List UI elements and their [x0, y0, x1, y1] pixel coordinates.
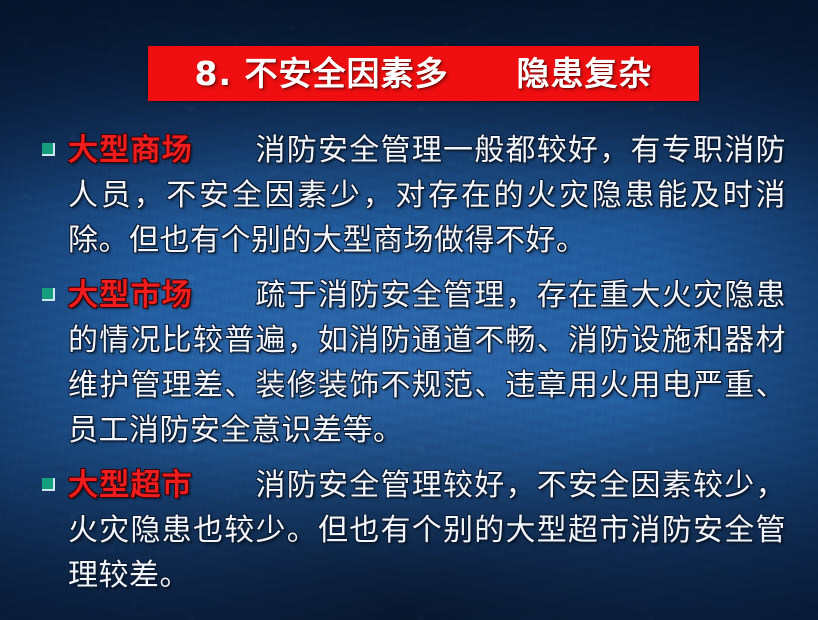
slide-title: 8. 不安全因素多 隐患复杂 [195, 57, 653, 90]
bullet-lead-label: 大型市场 [68, 278, 193, 313]
square-bullet-icon [42, 478, 55, 491]
square-bullet-icon [42, 288, 55, 301]
slide-body: 大型商场 消防安全管理一般都较好，有专职消防人员，不安全因素少，对存在的火灾隐患… [42, 128, 786, 608]
bullet-text: 大型商场 消防安全管理一般都较好，有专职消防人员，不安全因素少，对存在的火灾隐患… [68, 128, 786, 263]
square-bullet-icon [42, 143, 55, 156]
bullet-item: 大型商场 消防安全管理一般都较好，有专职消防人员，不安全因素少，对存在的火灾隐患… [42, 128, 786, 263]
bullet-text: 大型超市 消防安全管理较好，不安全因素较少，火灾隐患也较少。但也有个别的大型超市… [68, 463, 786, 598]
bullet-item: 大型市场 疏于消防安全管理，存在重大火灾隐患的情况比较普遍，如消防通道不畅、消防… [42, 273, 786, 453]
bullet-text: 大型市场 疏于消防安全管理，存在重大火灾隐患的情况比较普遍，如消防通道不畅、消防… [68, 273, 786, 453]
bullet-gap [193, 133, 256, 168]
title-banner: 8. 不安全因素多 隐患复杂 [148, 46, 699, 101]
bullet-gap [193, 278, 256, 313]
bullet-gap [193, 468, 256, 503]
bullet-lead-label: 大型商场 [68, 133, 193, 168]
bullet-item: 大型超市 消防安全管理较好，不安全因素较少，火灾隐患也较少。但也有个别的大型超市… [42, 463, 786, 598]
presentation-slide: 8. 不安全因素多 隐患复杂 大型商场 消防安全管理一般都较好，有专职消防人员，… [0, 0, 818, 620]
bullet-lead-label: 大型超市 [68, 468, 193, 503]
